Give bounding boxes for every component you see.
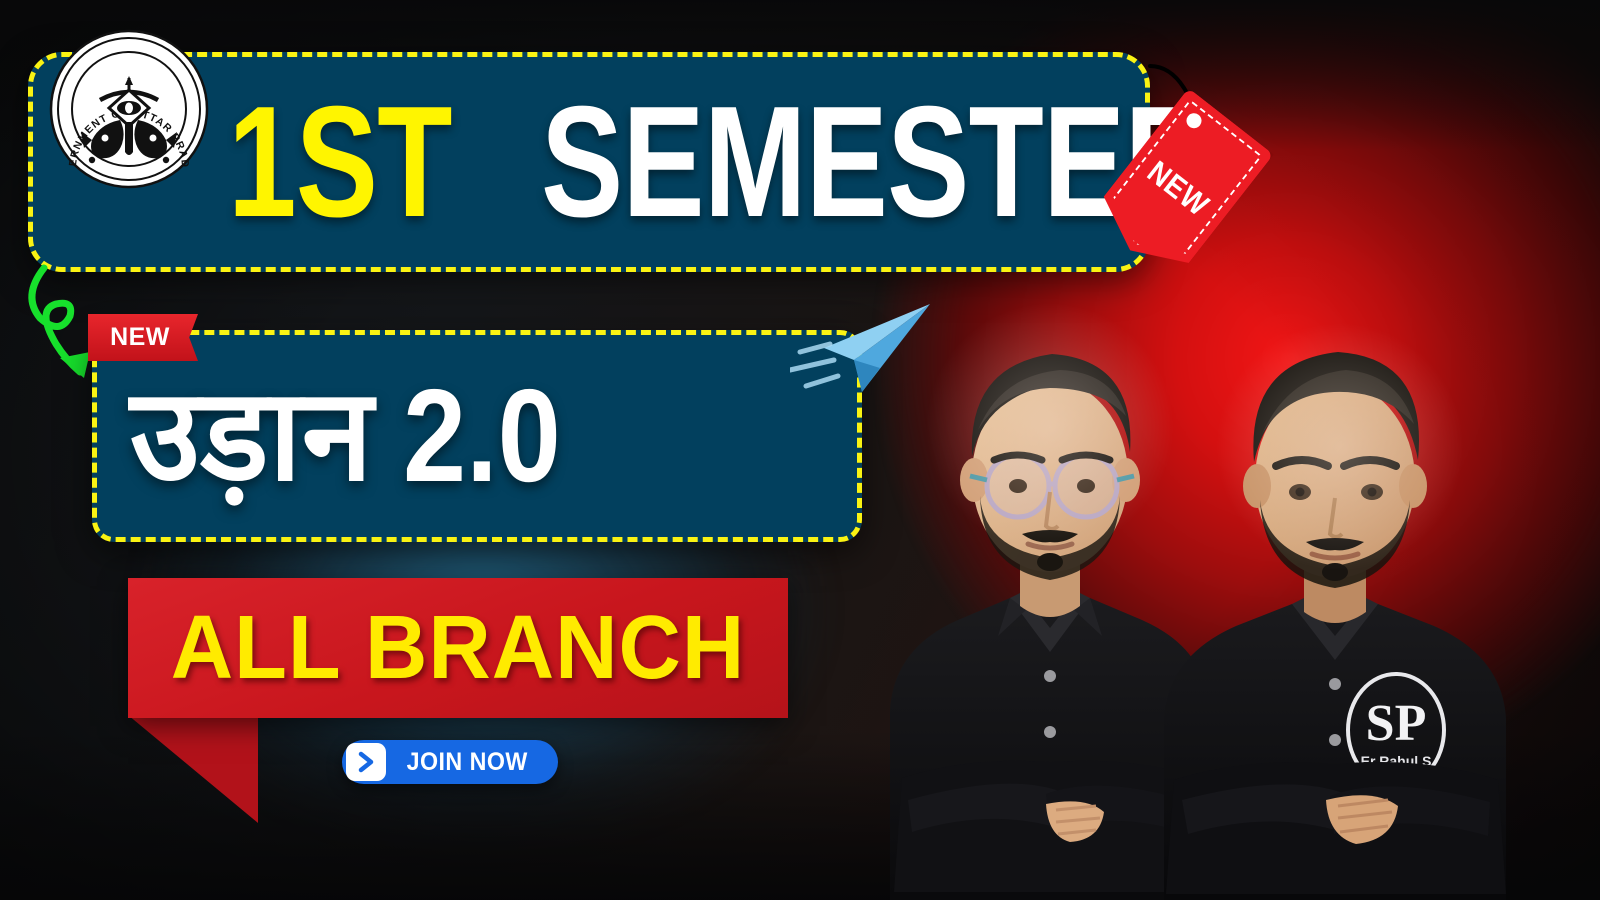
chevron-right-icon (346, 743, 386, 781)
paper-plane-icon (790, 296, 940, 406)
new-price-tag: NEW (1148, 62, 1348, 292)
uttar-pradesh-government-emblem: GOVERNMENT OF UTTAR PRADESH (48, 28, 210, 190)
course-title-version: 2.0 (403, 370, 561, 502)
join-now-label: JOIN NOW (407, 748, 528, 777)
presenter-right: SP Er Rahul S (1130, 300, 1550, 900)
all-branch-banner: ALL BRANCH (128, 578, 788, 718)
svg-text:SP: SP (1366, 695, 1427, 752)
course-title-hindi: उड़ान (130, 372, 373, 500)
presenter-glow (1215, 322, 1465, 572)
headline-ordinal: 1ST (228, 83, 452, 241)
presenters-group: SP Er Rahul S (830, 280, 1600, 900)
join-now-button[interactable]: JOIN NOW (342, 740, 558, 784)
promo-banner: SP Er Rahul S (0, 0, 1600, 900)
all-branch-label: ALL BRANCH (141, 578, 775, 718)
course-title: उड़ान 2.0 (130, 330, 586, 542)
